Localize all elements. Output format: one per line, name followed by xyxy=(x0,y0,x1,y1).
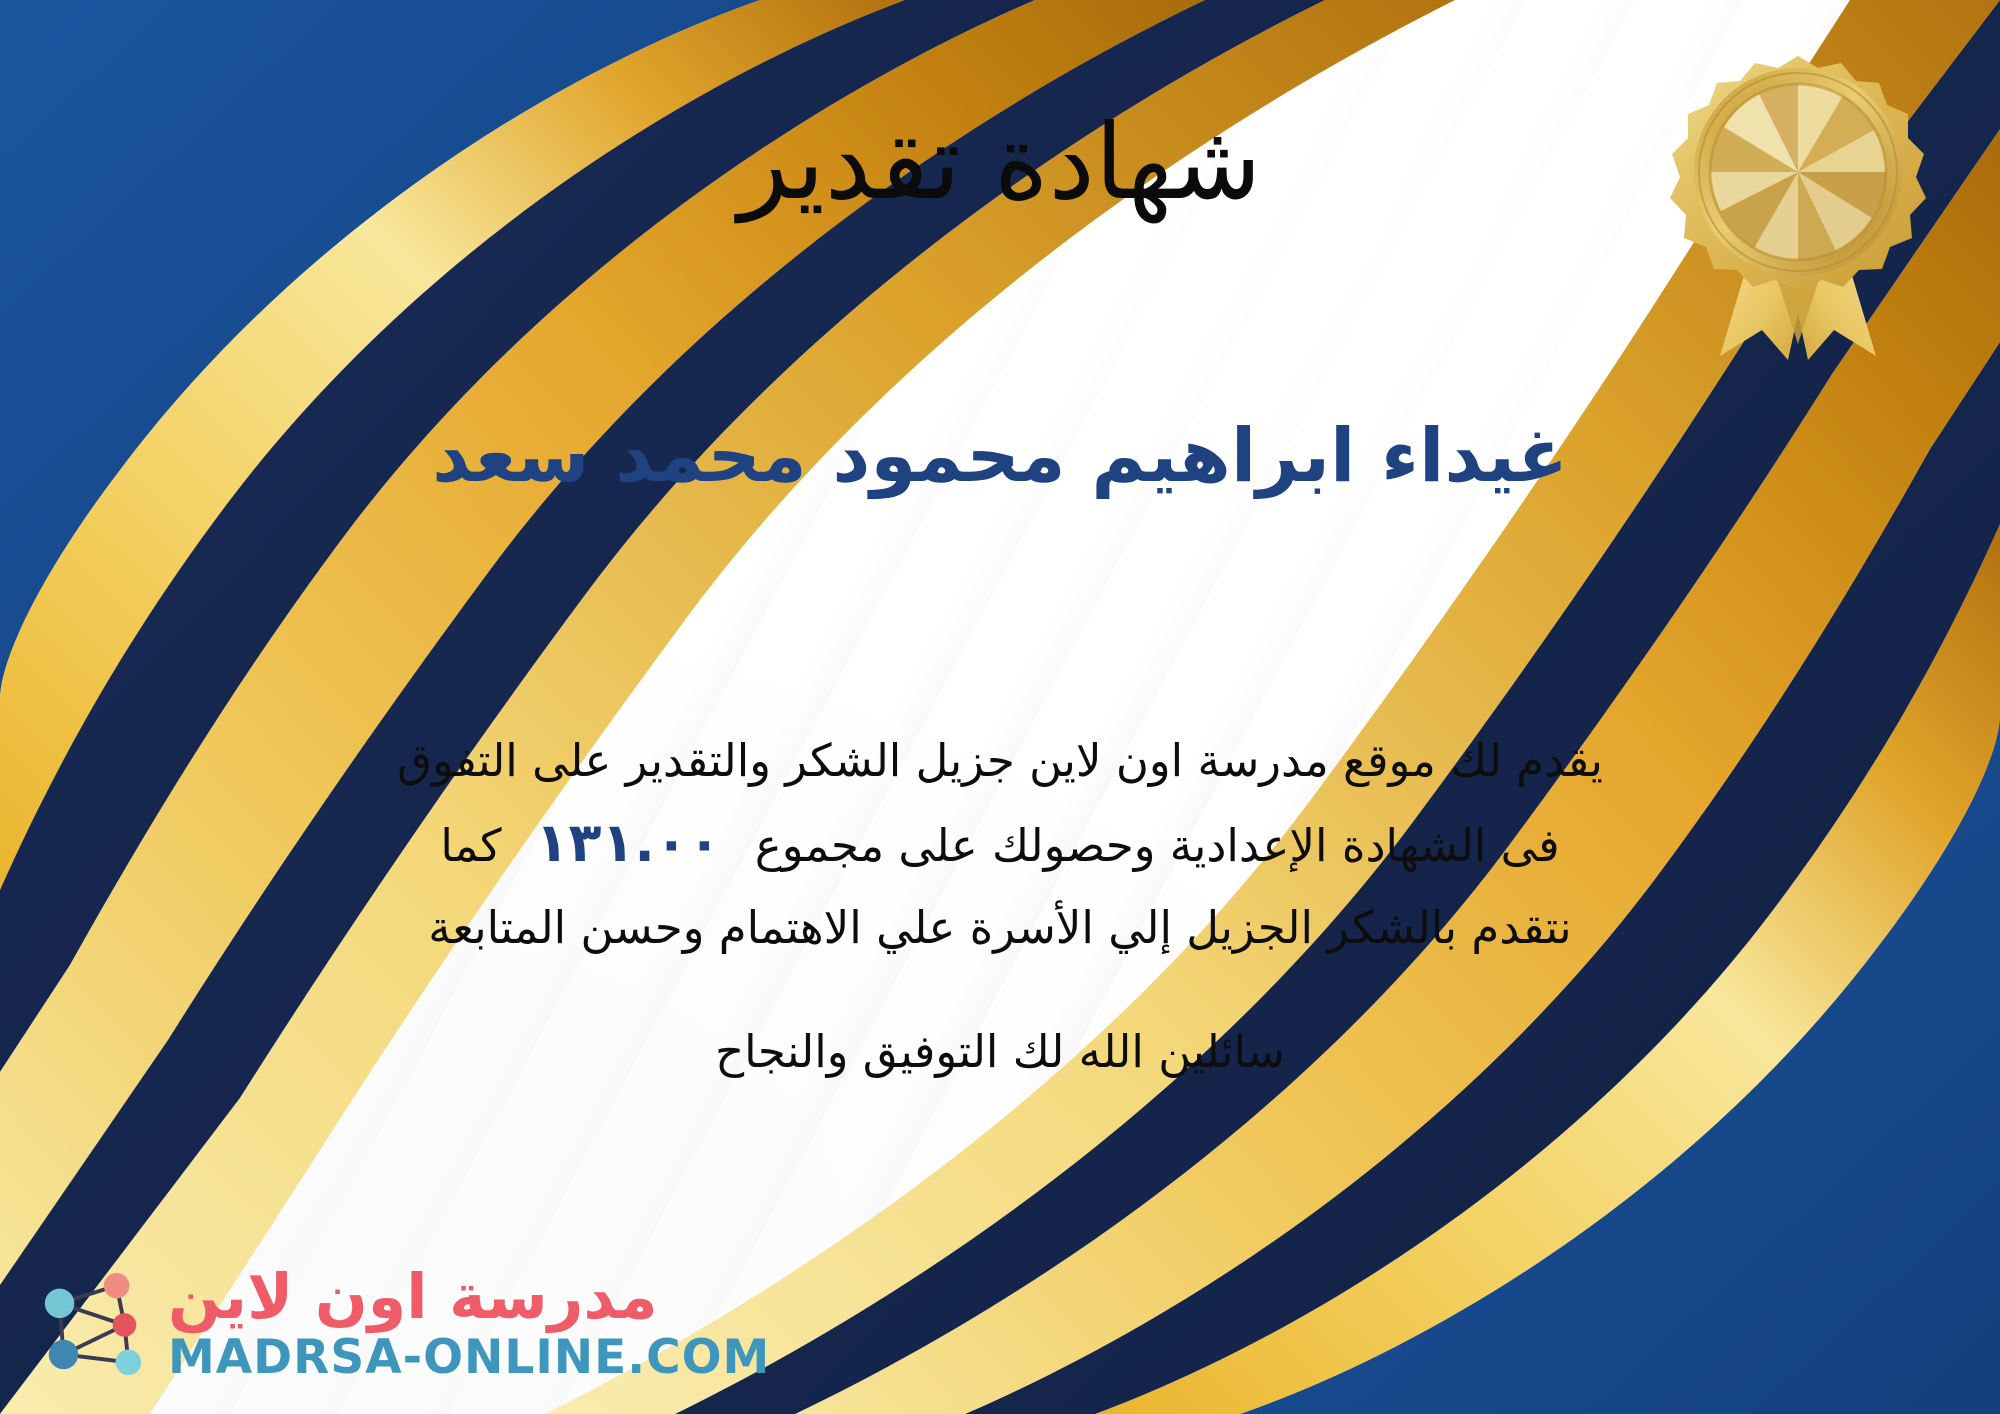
body-line-2: فى الشهادة الإعدادية وحصولك على مجموع١٣١… xyxy=(70,802,1930,887)
brand-name-arabic: مدرسة اون لاين xyxy=(168,1266,658,1328)
body-line-2-suffix: كما xyxy=(440,819,501,872)
page-title: شهادة تقدير xyxy=(0,108,2000,217)
recipient-name: غيداء ابراهيم محمود محمد سعد xyxy=(0,414,2000,499)
grade-total-value: ١٣١.٠٠ xyxy=(502,811,755,874)
brand-logo[interactable]: مدرسة اون لاين MADRSA-ONLINE.COM xyxy=(34,1264,770,1382)
closing-wish: سائلين الله لك التوفيق والنجاح xyxy=(0,1025,2000,1078)
certificate-content: شهادة تقدير غيداء ابراهيم محمود محمد سعد… xyxy=(0,0,2000,1414)
network-nodes-icon xyxy=(34,1264,152,1382)
body-line-1: يقدم لك موقع مدرسة اون لاين جزيل الشكر و… xyxy=(70,720,1930,802)
body-line-3: نتقدم بالشكر الجزيل إلي الأسرة علي الاهت… xyxy=(70,887,1930,969)
body-line-2-prefix: فى الشهادة الإعدادية وحصولك على مجموع xyxy=(755,819,1560,872)
certificate-body: يقدم لك موقع مدرسة اون لاين جزيل الشكر و… xyxy=(70,720,1930,969)
brand-domain: MADRSA-ONLINE.COM xyxy=(168,1334,770,1381)
brand-logo-text: مدرسة اون لاين MADRSA-ONLINE.COM xyxy=(168,1266,770,1381)
certificate-canvas: شهادة تقدير غيداء ابراهيم محمود محمد سعد… xyxy=(0,0,2000,1414)
